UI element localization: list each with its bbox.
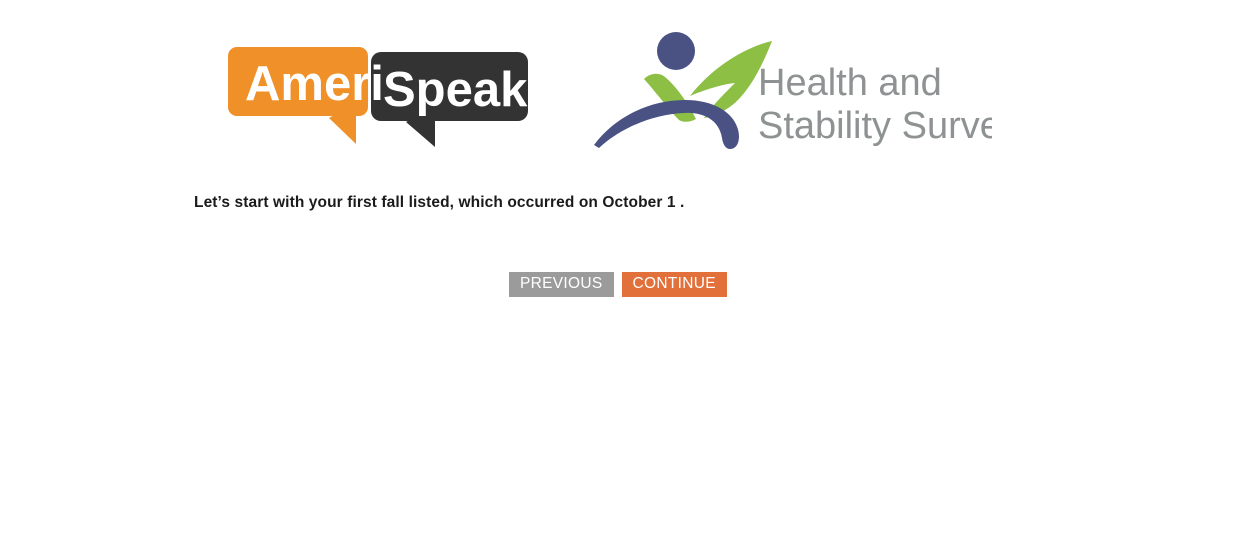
hss-logo-svg: Health and Stability Survey [592,26,992,150]
amerispeak-logo-svg: Ameri Speak [228,42,528,147]
previous-button[interactable]: PREVIOUS [509,272,614,297]
hss-navy-head [657,32,695,70]
question-block: Let’s start with your first fall listed,… [194,192,1094,214]
hss-navy-crescent [594,100,739,149]
hss-wordmark-line2: Stability Survey [758,105,992,147]
health-and-stability-survey-logo: Health and Stability Survey [592,26,992,150]
amerispeak-word-ameri: Ameri [245,57,384,111]
logo-band: Ameri Speak Health and Stability Survey [0,0,1252,165]
amerispeak-logo: Ameri Speak [228,42,528,147]
continue-button[interactable]: CONTINUE [622,272,727,297]
navigation-buttons: PREVIOUS CONTINUE [509,272,727,297]
amerispeak-word-speak: Speak [383,63,528,117]
question-prompt: Let’s start with your first fall listed,… [194,192,1094,214]
hss-figure-mark [594,32,772,149]
hss-wordmark-line1: Health and [758,62,942,104]
